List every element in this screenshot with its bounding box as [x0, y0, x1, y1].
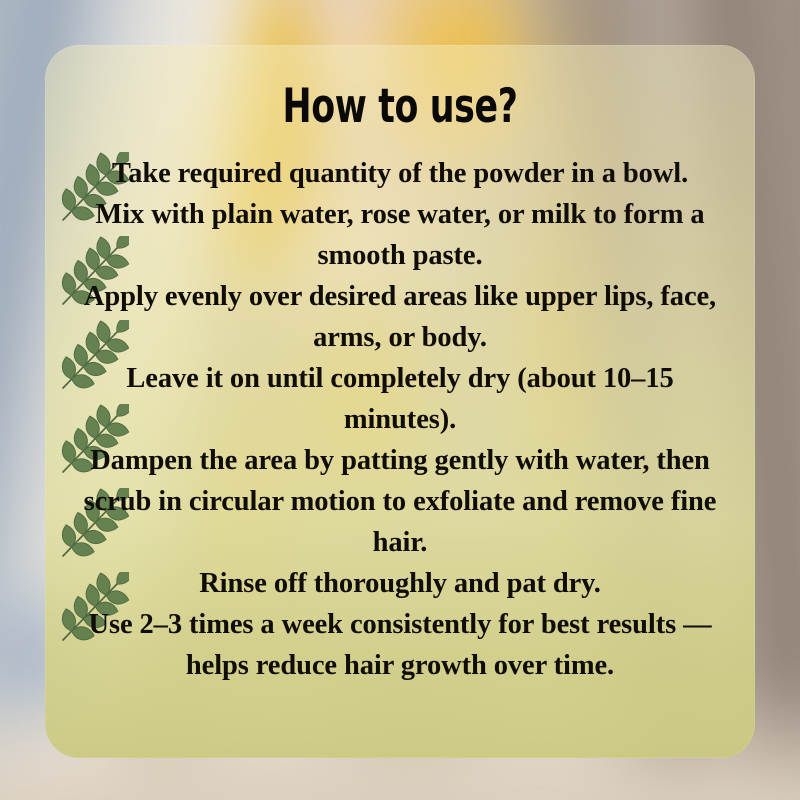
list-item: Leave it on until completely dry (about …: [45, 358, 755, 440]
card-content: How to use? Take required quantity of th…: [45, 45, 755, 758]
list-item: Mix with plain water, rose water, or mil…: [45, 194, 755, 276]
poster-canvas: How to use? Take required quantity of th…: [0, 0, 800, 800]
list-item: Apply evenly over desired areas like upp…: [45, 276, 755, 358]
list-item: Use 2–3 times a week consistently for be…: [45, 604, 755, 686]
instruction-list: Take required quantity of the powder in …: [45, 153, 755, 686]
list-item: Take required quantity of the powder in …: [45, 153, 755, 194]
page-title: How to use?: [137, 45, 662, 131]
list-item: Rinse off thoroughly and pat dry.: [45, 563, 755, 604]
list-item: Dampen the area by patting gently with w…: [45, 440, 755, 563]
